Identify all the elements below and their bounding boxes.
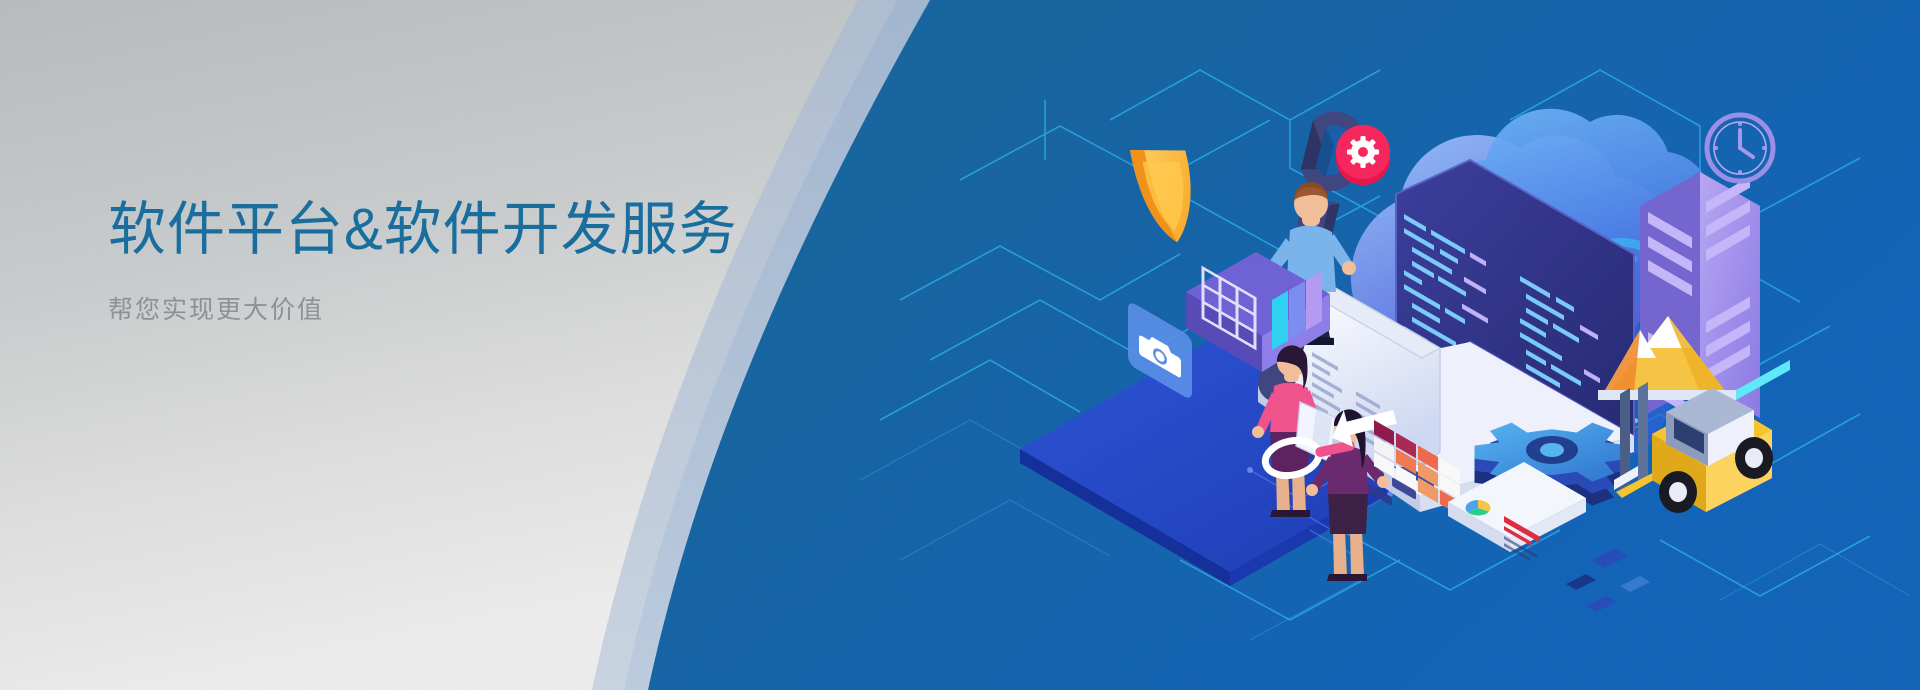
decor-shards xyxy=(1566,548,1650,612)
isometric-software-development-scene xyxy=(0,0,1920,690)
hero-banner: 软件平台&软件开发服务 帮您实现更大价值 xyxy=(0,0,1920,690)
security-shield-icon xyxy=(1130,139,1204,248)
clock-icon xyxy=(1707,115,1773,181)
gear-badge-icon xyxy=(1336,125,1390,185)
